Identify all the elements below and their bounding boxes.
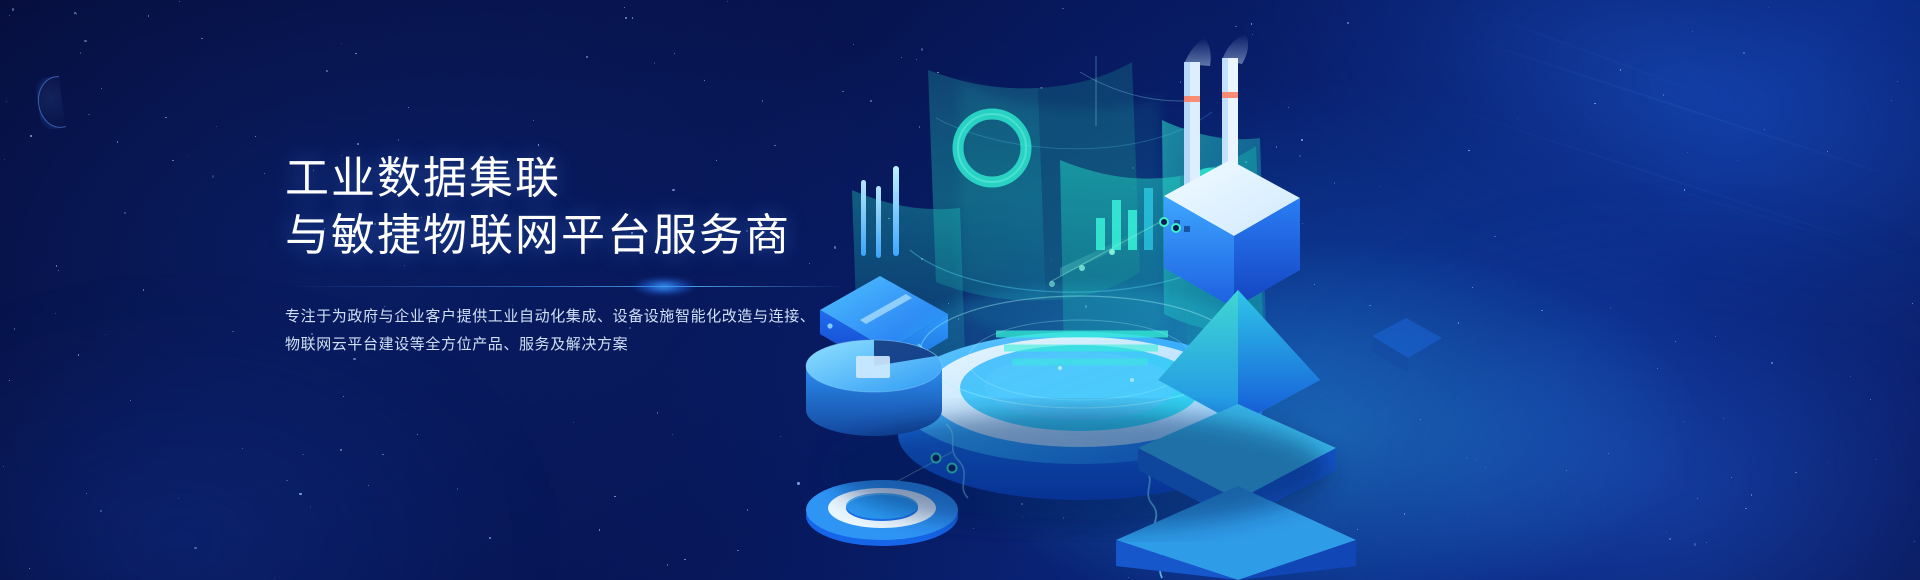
star	[58, 270, 59, 271]
star	[201, 38, 202, 39]
star	[533, 120, 534, 121]
star	[9, 15, 10, 16]
star	[657, 412, 658, 413]
star	[124, 212, 126, 214]
star	[101, 88, 102, 89]
subtitle-line-2: 物联网云平台建设等全方位产品、服务及解决方案	[285, 331, 925, 359]
star	[216, 126, 217, 127]
star	[30, 135, 31, 136]
headline-line-1: 工业数据集联	[285, 150, 925, 207]
star	[341, 43, 342, 44]
subtitle-line-1: 专注于为政府与企业客户提供工业自动化集成、设备设施智能化改造与连接、	[285, 303, 925, 331]
star	[80, 52, 81, 53]
star	[737, 550, 738, 551]
star	[302, 454, 303, 455]
star	[255, 136, 256, 137]
banner-background: 工业数据集联 与敏捷物联网平台服务商 专注于为政府与企业客户提供工业自动化集成、…	[0, 0, 1920, 580]
star	[143, 289, 144, 290]
star	[684, 559, 685, 560]
star	[12, 8, 14, 10]
star	[625, 17, 627, 19]
headline-line-2: 与敏捷物联网平台服务商	[285, 207, 925, 264]
isometric-iot-illustration	[760, 0, 1920, 580]
star	[340, 449, 342, 451]
crescent-moon-icon	[35, 73, 84, 130]
star	[194, 547, 196, 549]
banner-copy: 工业数据集联 与敏捷物联网平台服务商 专注于为政府与企业客户提供工业自动化集成、…	[285, 150, 925, 359]
star	[727, 1, 728, 2]
star	[78, 354, 79, 355]
star	[489, 537, 490, 538]
star	[538, 144, 539, 145]
star	[398, 139, 399, 140]
star	[654, 62, 655, 63]
star	[408, 107, 409, 108]
star	[674, 53, 675, 54]
star	[100, 510, 102, 512]
star	[179, 1, 180, 2]
star	[56, 265, 57, 266]
star	[632, 17, 633, 18]
star	[84, 40, 86, 42]
star	[382, 454, 383, 455]
star	[4, 159, 5, 160]
star	[117, 141, 118, 142]
star	[599, 529, 600, 530]
star	[586, 56, 587, 57]
star	[6, 101, 7, 102]
star	[212, 175, 214, 177]
star	[326, 70, 327, 71]
star	[667, 564, 668, 565]
star	[188, 156, 189, 157]
star	[14, 328, 15, 329]
star	[704, 80, 705, 81]
star	[148, 15, 149, 16]
star	[232, 331, 233, 332]
star	[624, 7, 625, 8]
star	[355, 53, 356, 54]
star	[573, 422, 574, 423]
star	[264, 173, 265, 174]
star	[88, 114, 89, 115]
divider-glow-line	[285, 286, 845, 287]
star	[172, 160, 173, 161]
star	[614, 496, 615, 497]
star	[165, 117, 166, 118]
factory-chimney-block	[1164, 34, 1300, 308]
star	[76, 13, 77, 14]
star	[357, 143, 358, 144]
star	[299, 493, 301, 495]
star	[747, 509, 748, 510]
star	[672, 434, 673, 435]
